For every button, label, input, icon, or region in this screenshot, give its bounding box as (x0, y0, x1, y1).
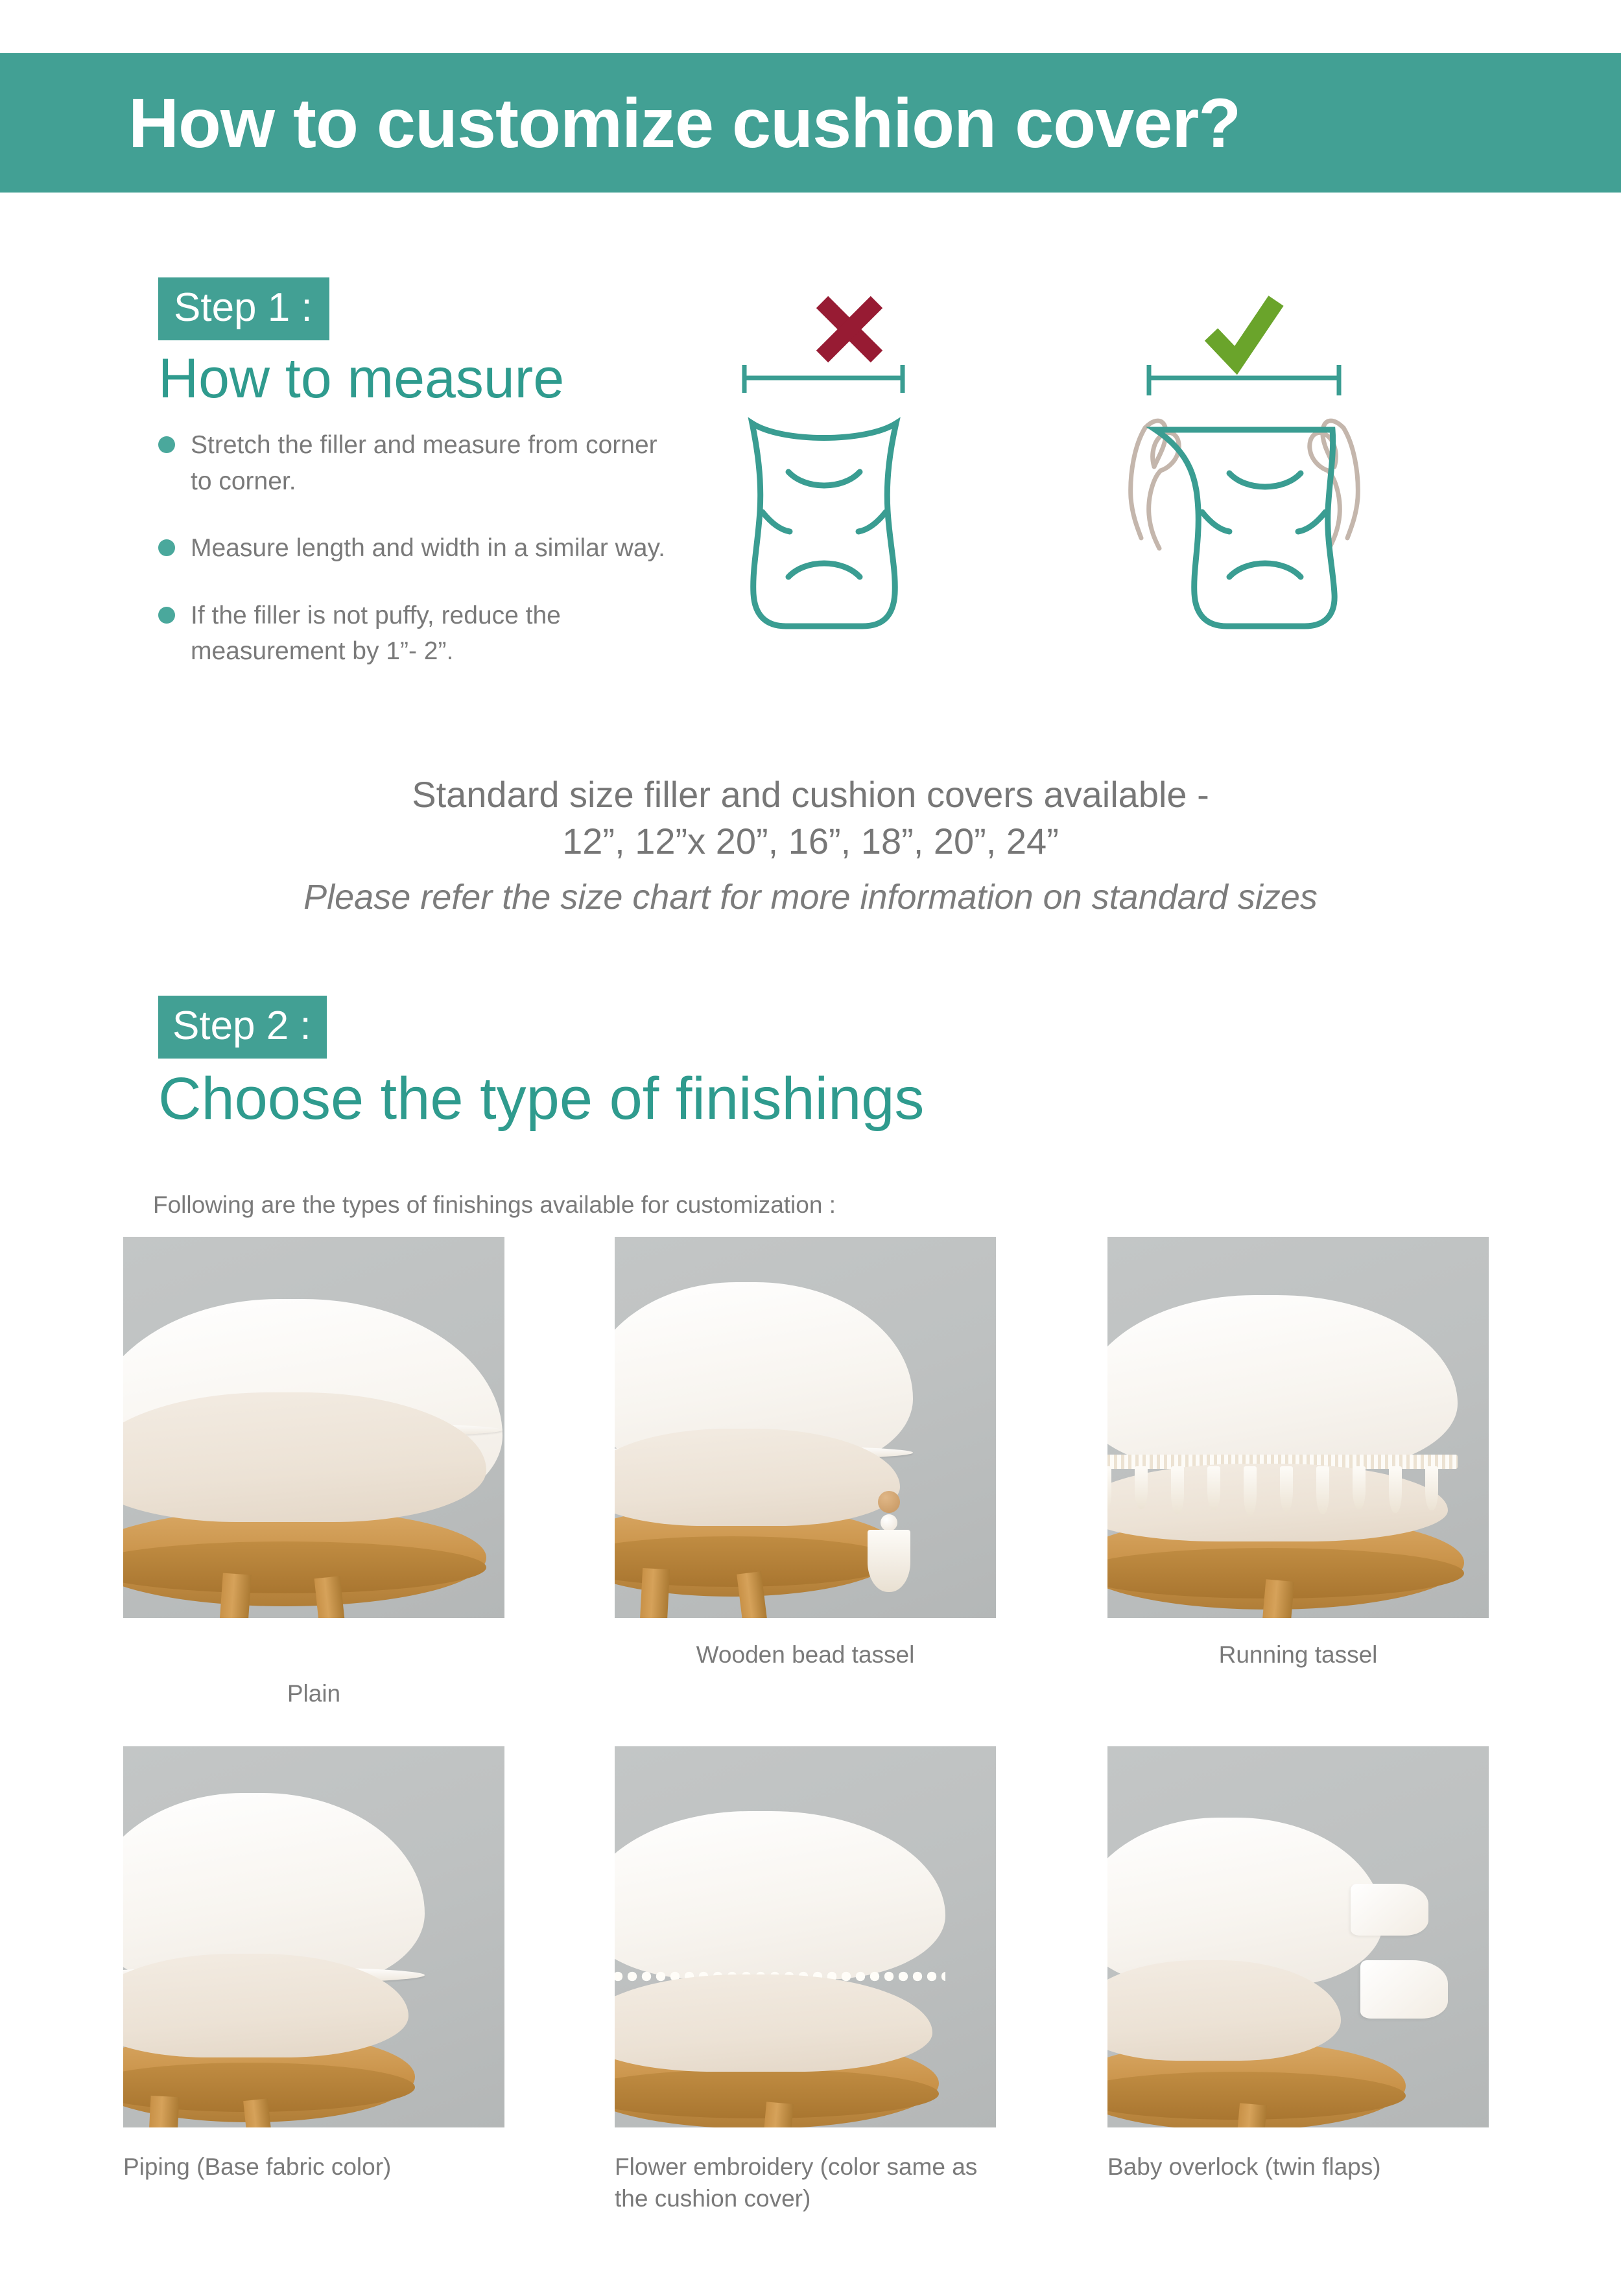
twin-flap-icon (1351, 1884, 1428, 1936)
finishing-caption-piping: Piping (Base fabric color) (123, 2151, 504, 2183)
finishing-photo-wooden-bead-tassel[interactable] (615, 1237, 996, 1618)
wooden-bead-icon (878, 1491, 900, 1513)
finishing-photo-baby-overlock[interactable] (1107, 1746, 1489, 2127)
twin-flap-icon (1360, 1960, 1448, 2019)
tassel-icon (868, 1530, 910, 1592)
finishing-photo-flower-embroidery[interactable] (615, 1746, 996, 2127)
finishing-caption-plain: Plain (123, 1678, 504, 1709)
finishing-caption-flower-embroidery: Flower embroidery (color same as the cus… (615, 2151, 978, 2214)
finishing-photo-plain[interactable] (123, 1237, 504, 1618)
finishing-photo-piping[interactable] (123, 1746, 504, 2127)
finishing-photo-running-tassel[interactable] (1107, 1237, 1489, 1618)
finishing-caption-wooden-bead-tassel: Wooden bead tassel (615, 1639, 996, 1670)
finishing-caption-baby-overlock: Baby overlock (twin flaps) (1107, 2151, 1489, 2183)
running-tassel-row (1107, 1466, 1464, 1525)
finishing-caption-running-tassel: Running tassel (1107, 1639, 1489, 1670)
finishings-grid: Plain Wooden bead tassel (0, 0, 1621, 2296)
